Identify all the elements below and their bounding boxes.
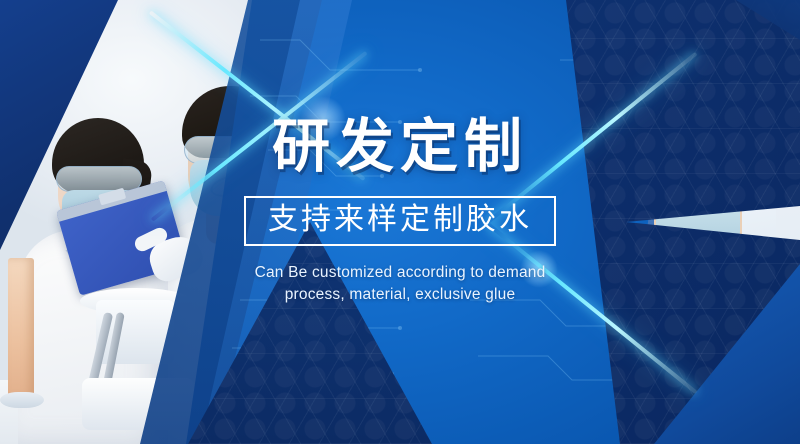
cylinder-base [0,392,44,408]
graduated-cylinder [8,258,34,398]
promo-banner: 研发定制 支持来样定制胶水 Can Be customized accordin… [0,0,800,444]
safety-goggles-icon [56,166,142,192]
